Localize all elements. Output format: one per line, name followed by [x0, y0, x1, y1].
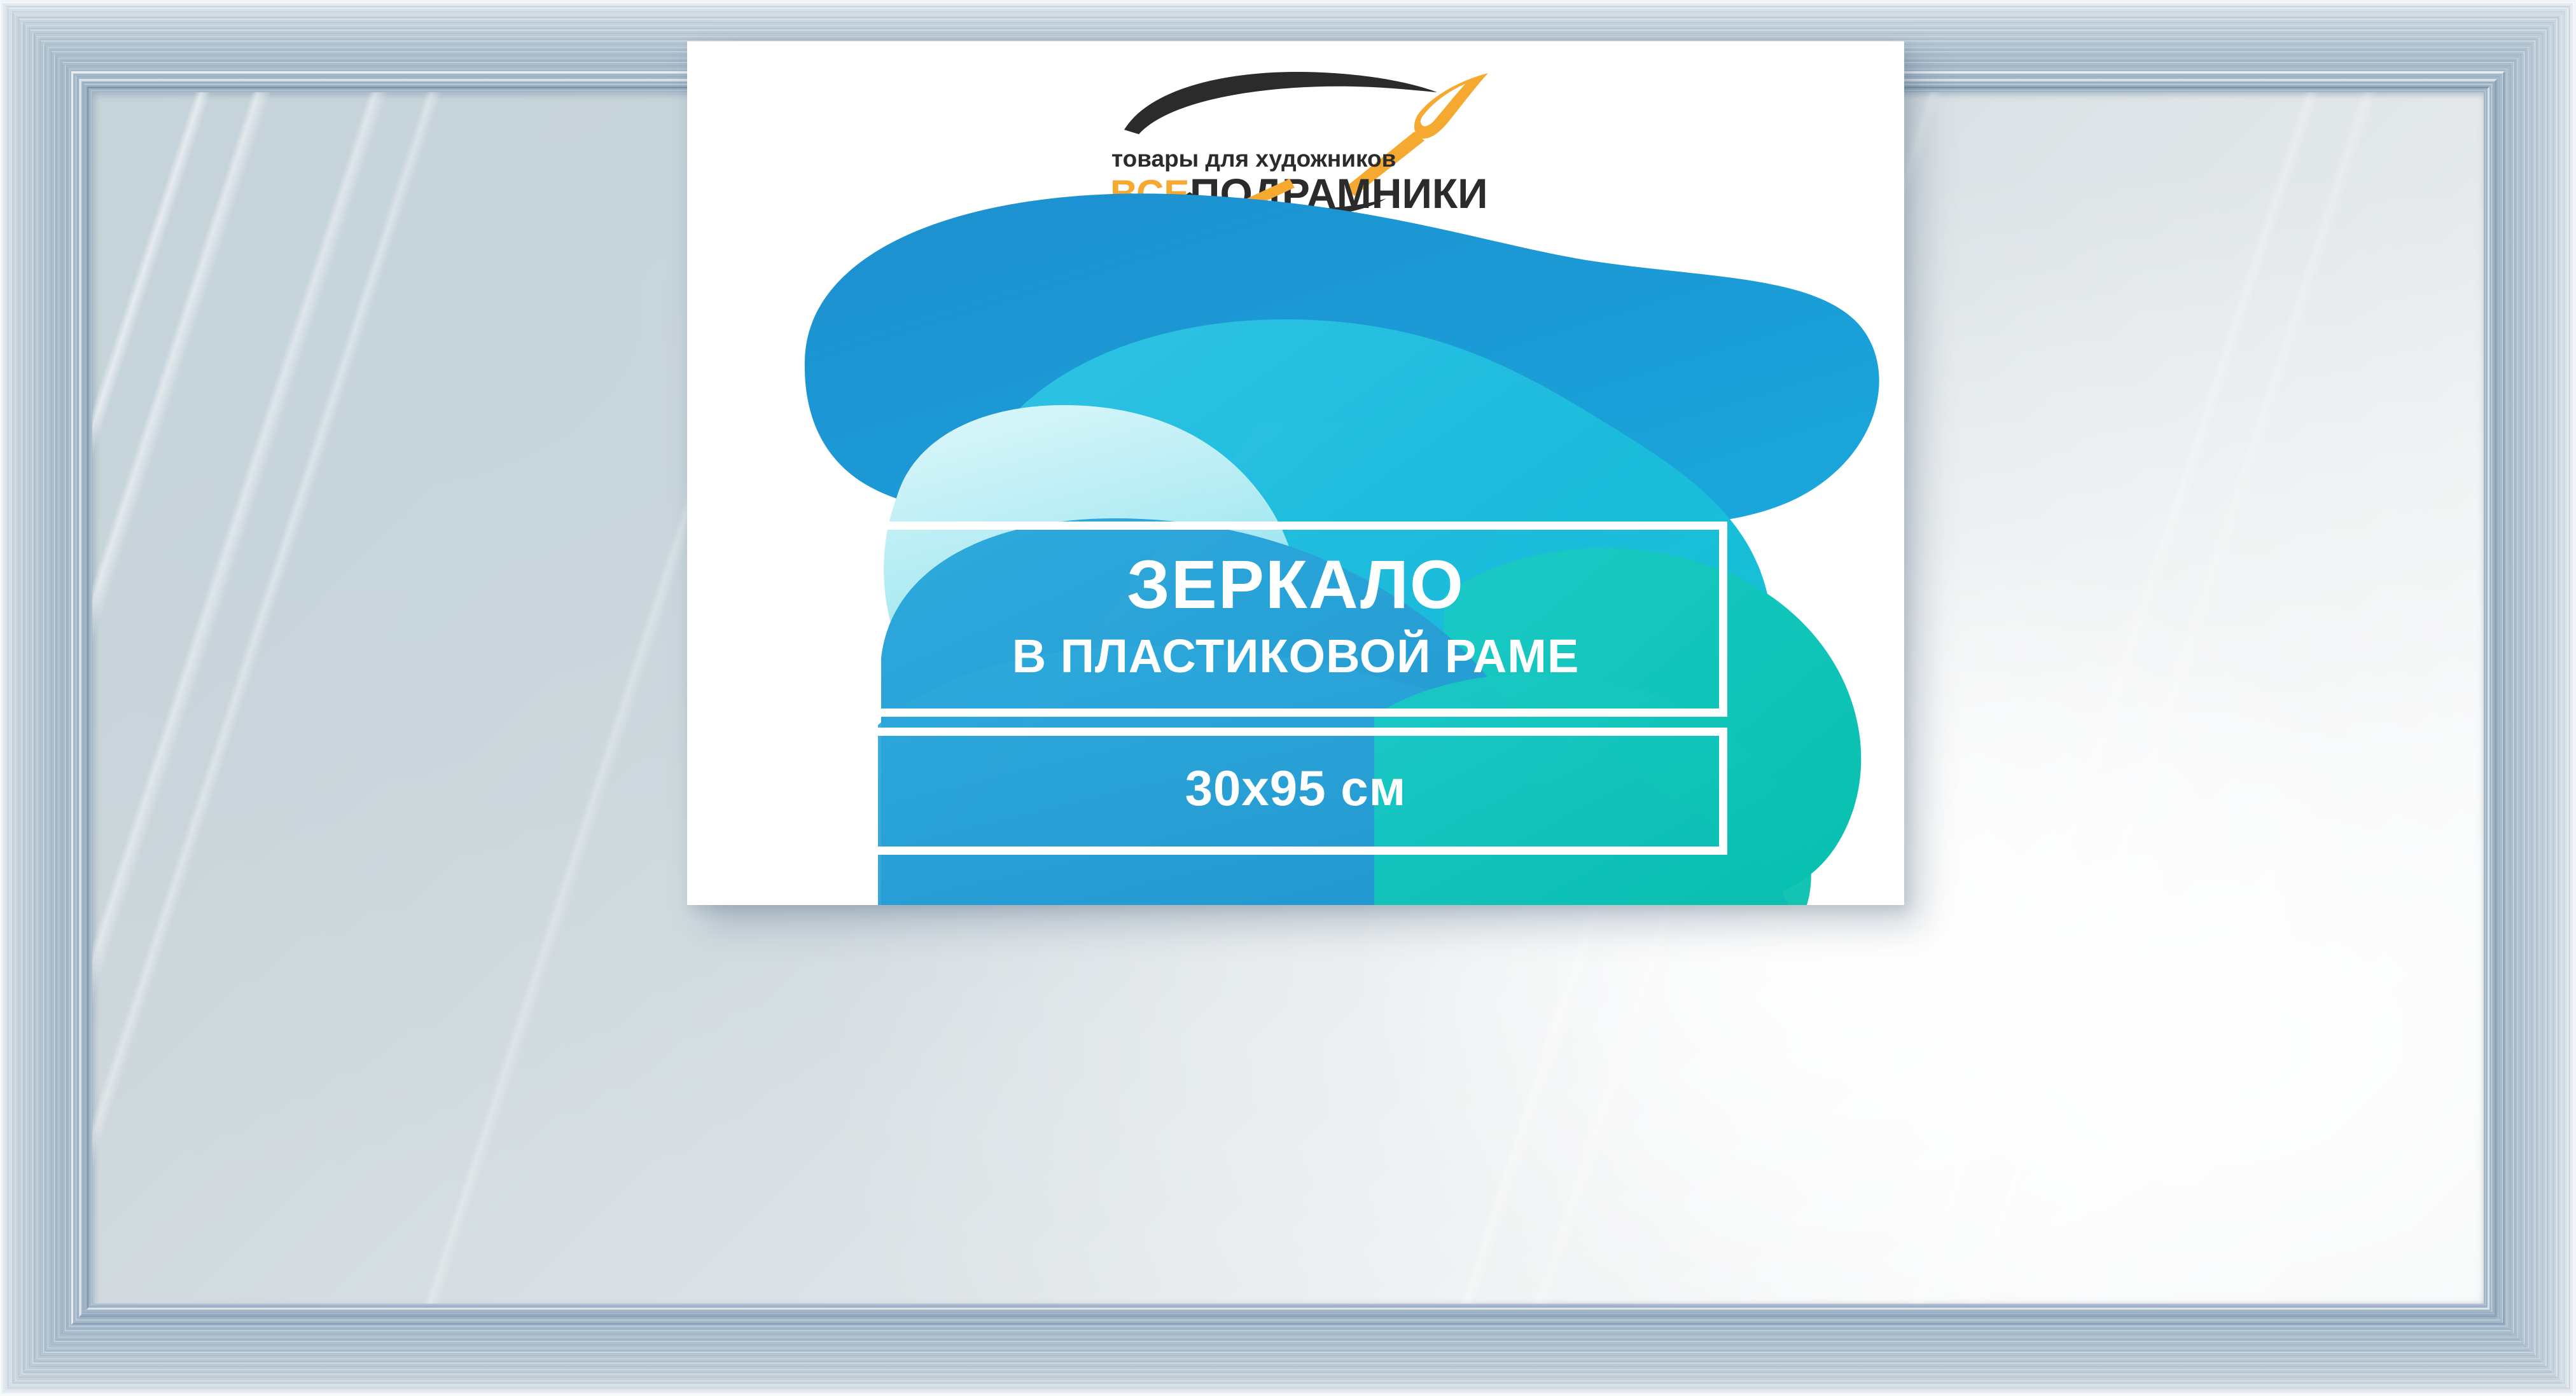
product-photo: товары для художников ВСЕ ПОДРАМНИКИ — [0, 0, 2576, 1396]
product-label-card: товары для художников ВСЕ ПОДРАМНИКИ — [687, 41, 1904, 905]
logo-arc-top — [1124, 72, 1437, 134]
title-textbox — [865, 522, 1727, 717]
paintbrush-icon — [1414, 73, 1487, 139]
size-textbox — [865, 728, 1727, 855]
